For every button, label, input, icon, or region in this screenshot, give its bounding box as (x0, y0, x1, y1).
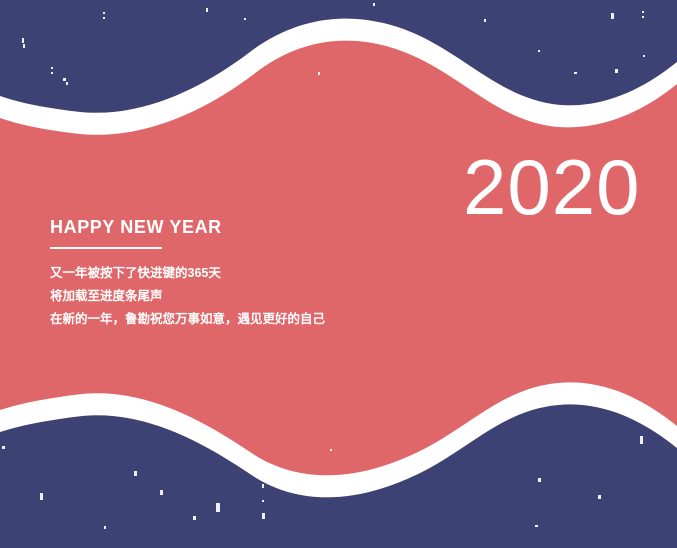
confetti-speck (216, 503, 220, 512)
new-year-greeting-card: 2020 HAPPY NEW YEAR 又一年被按下了快进键的365天 将加载至… (0, 0, 677, 548)
confetti-speck (538, 478, 541, 482)
confetti-speck (66, 82, 68, 85)
confetti-speck (373, 3, 375, 6)
confetti-speck (103, 12, 105, 14)
confetti-speck (643, 55, 645, 57)
confetti-speck (535, 525, 538, 527)
wave-bottom-white-band (0, 382, 677, 497)
confetti-speck (206, 8, 208, 12)
wave-divider-bottom (0, 348, 677, 548)
confetti-speck (615, 69, 618, 73)
headline-underline-rule (50, 247, 162, 249)
confetti-speck (134, 471, 137, 476)
confetti-speck (160, 490, 163, 495)
confetti-speck (660, 76, 662, 79)
wave-top-white-band (0, 19, 677, 135)
confetti-speck (598, 495, 601, 499)
message-line: 将加载至进度条尾声 (50, 285, 480, 308)
confetti-speck (318, 72, 320, 75)
headline-text: HAPPY NEW YEAR (50, 216, 470, 239)
confetti-speck (51, 67, 53, 69)
confetti-speck (22, 38, 24, 43)
confetti-speck (193, 516, 196, 520)
message-line: 又一年被按下了快进键的365天 (50, 262, 480, 285)
confetti-speck (640, 436, 643, 444)
confetti-speck (262, 513, 265, 519)
confetti-speck (63, 78, 66, 81)
wave-top-navy (0, 0, 677, 113)
headline-block: HAPPY NEW YEAR (50, 216, 470, 249)
confetti-speck (40, 493, 43, 500)
confetti-specks-top (0, 0, 677, 130)
year-numeral: 2020 (463, 148, 641, 226)
confetti-speck (330, 449, 332, 451)
confetti-speck (538, 50, 540, 52)
confetti-speck (51, 72, 53, 74)
wave-bottom-navy (0, 404, 677, 548)
confetti-speck (484, 19, 486, 22)
confetti-speck (330, 27, 332, 29)
confetti-speck (574, 72, 577, 74)
confetti-specks-bottom (0, 408, 677, 548)
confetti-speck (642, 11, 644, 13)
confetti-speck (244, 18, 246, 20)
confetti-speck (261, 476, 264, 480)
confetti-speck (642, 16, 644, 18)
confetti-speck (23, 44, 25, 48)
confetti-speck (104, 526, 106, 529)
message-line: 在新的一年，鲁勘祝您万事如意，遇见更好的自己 (50, 308, 480, 331)
confetti-speck (262, 500, 264, 502)
confetti-speck (2, 446, 5, 449)
greeting-message: 又一年被按下了快进键的365天 将加载至进度条尾声 在新的一年，鲁勘祝您万事如意… (50, 262, 480, 331)
confetti-speck (611, 13, 614, 19)
confetti-speck (103, 17, 105, 19)
confetti-speck (262, 484, 264, 488)
